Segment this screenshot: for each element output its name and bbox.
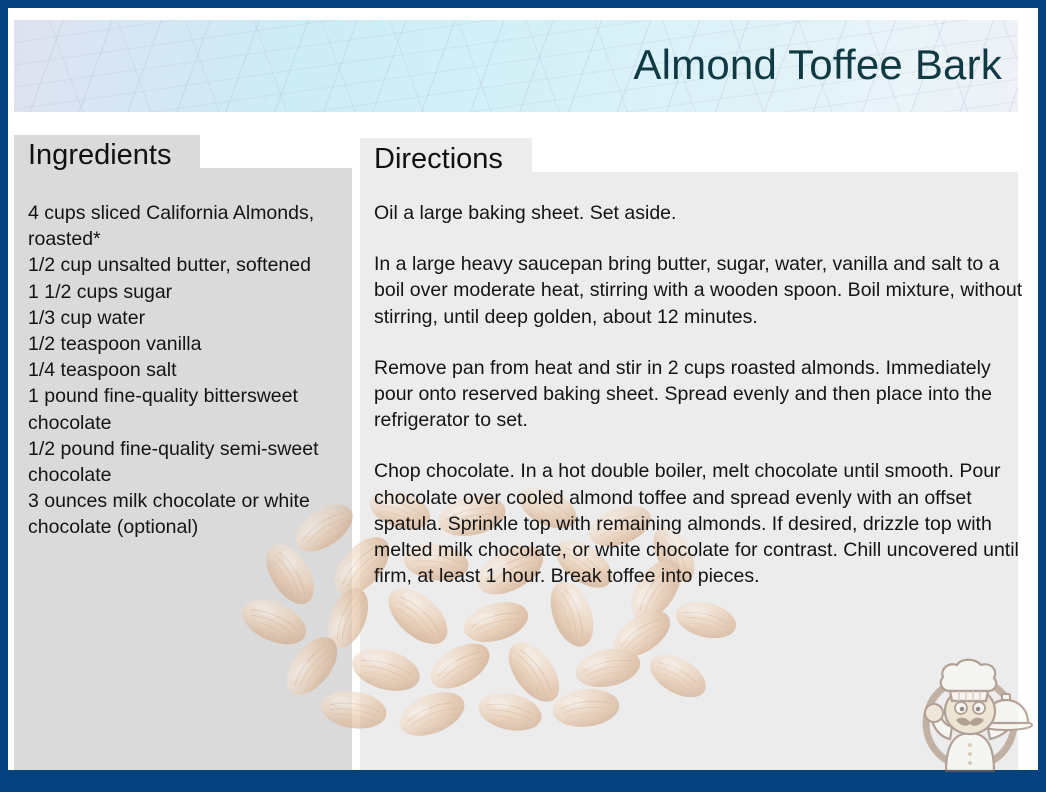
list-item: 3 ounces milk chocolate or white chocola… bbox=[28, 488, 354, 540]
recipe-card: Almond Toffee Bark bbox=[0, 0, 1046, 792]
list-item: 1/4 teaspoon salt bbox=[28, 357, 354, 383]
list-item: 4 cups sliced California Almonds, roaste… bbox=[28, 200, 354, 252]
header-banner: Almond Toffee Bark bbox=[14, 20, 1018, 112]
directions-paragraph: Chop chocolate. In a hot double boiler, … bbox=[374, 458, 1026, 589]
list-item: 1/2 pound fine-quality semi-sweet chocol… bbox=[28, 436, 354, 488]
list-item: 1 1/2 cups sugar bbox=[28, 279, 354, 305]
directions-paragraph: Remove pan from heat and stir in 2 cups … bbox=[374, 355, 1026, 434]
recipe-page: Almond Toffee Bark bbox=[8, 8, 1038, 770]
list-item: 1/2 teaspoon vanilla bbox=[28, 331, 354, 357]
list-item: 1/3 cup water bbox=[28, 305, 354, 331]
ingredients-heading-tab: Ingredients bbox=[14, 135, 200, 176]
ingredients-heading: Ingredients bbox=[28, 141, 172, 170]
ingredients-list: 4 cups sliced California Almonds, roaste… bbox=[28, 200, 354, 541]
directions-text: Oil a large baking sheet. Set aside. In … bbox=[374, 200, 1026, 589]
page-title: Almond Toffee Bark bbox=[633, 44, 1002, 86]
directions-paragraph: Oil a large baking sheet. Set aside. bbox=[374, 200, 1026, 226]
directions-heading-tab: Directions bbox=[360, 138, 532, 180]
list-item: 1 pound fine-quality bittersweet chocola… bbox=[28, 383, 354, 435]
directions-heading: Directions bbox=[374, 145, 503, 174]
list-item: 1/2 cup unsalted butter, softened bbox=[28, 252, 354, 278]
directions-paragraph: In a large heavy saucepan bring butter, … bbox=[374, 251, 1026, 330]
